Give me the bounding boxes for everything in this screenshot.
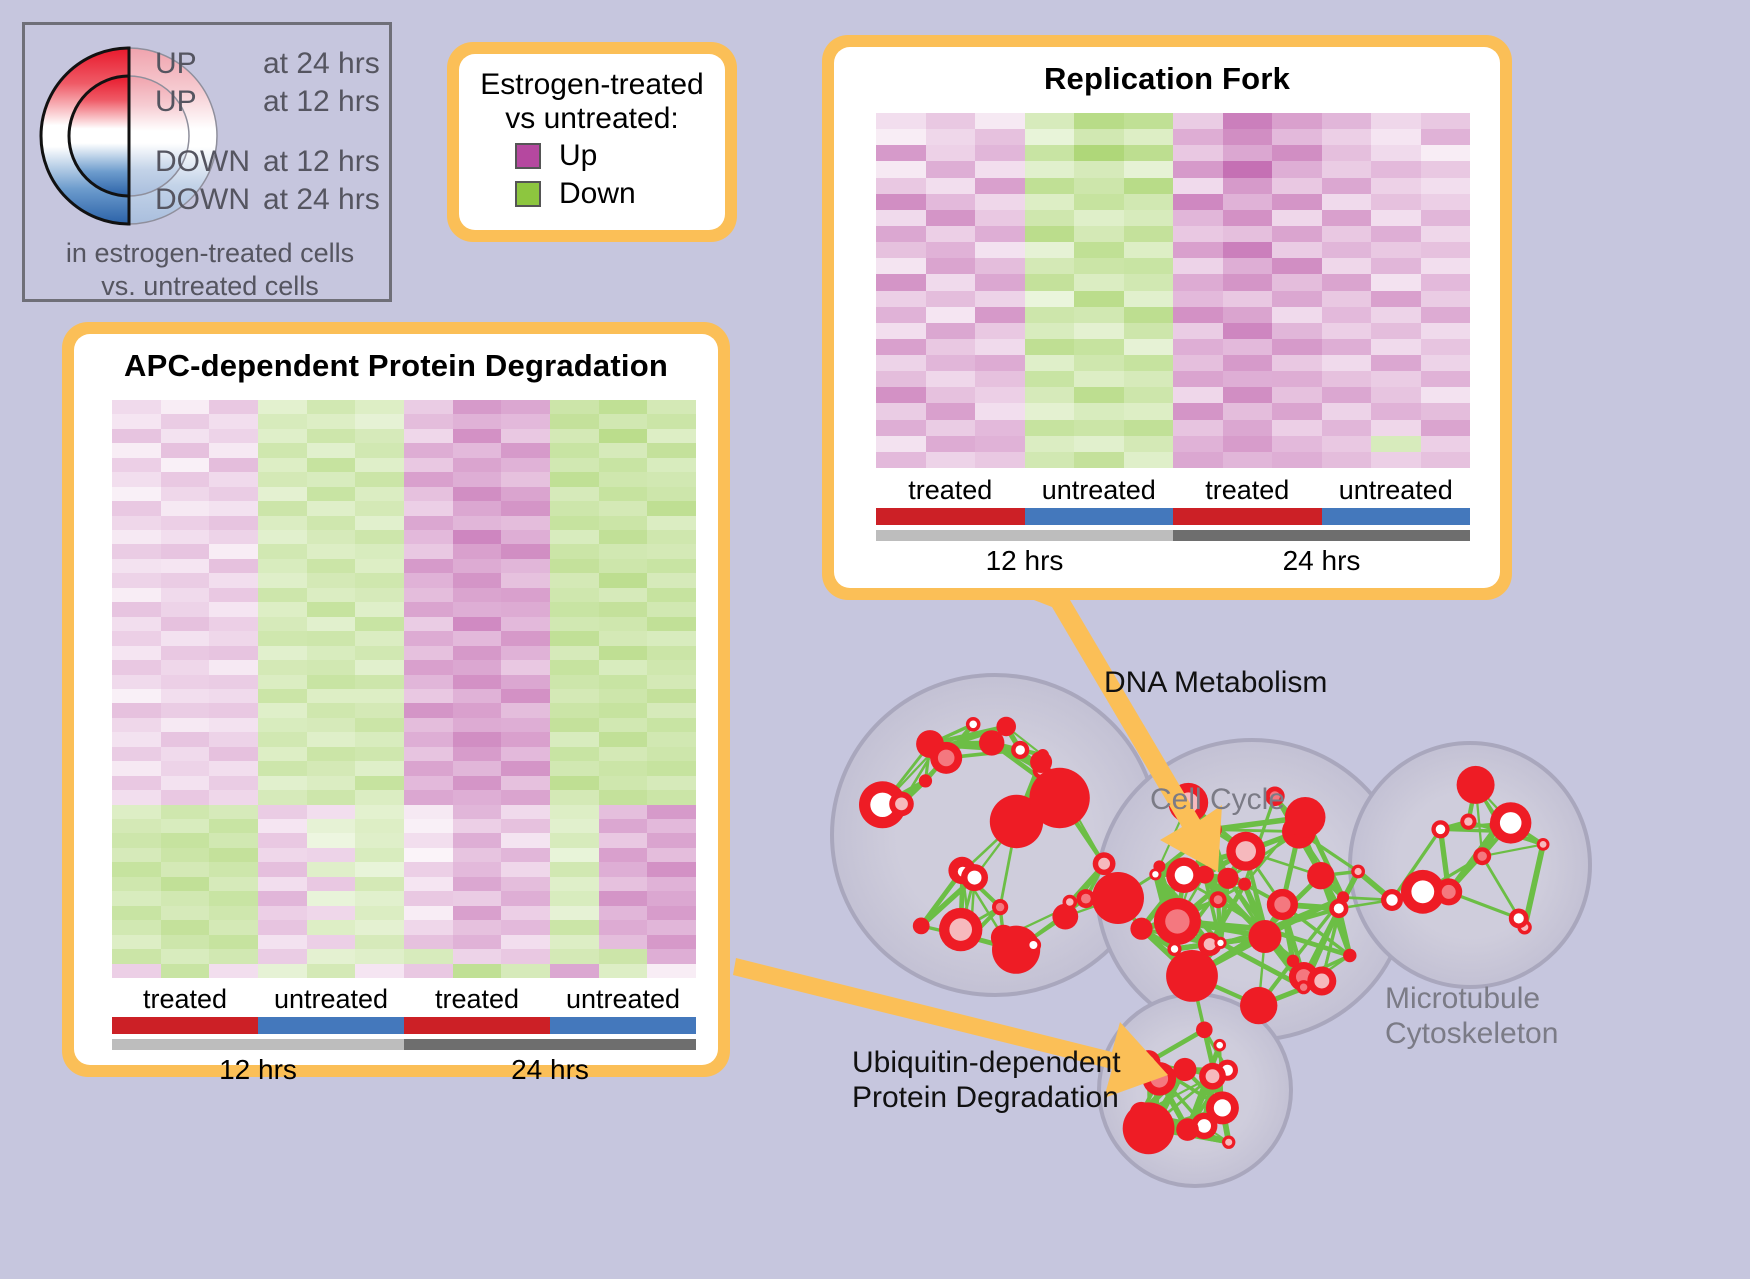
network-node[interactable] (1149, 868, 1161, 880)
timepoint-labels: 12 hrs24 hrs (876, 545, 1470, 577)
heatmap-cell (975, 403, 1025, 419)
heatmap-cell (1173, 113, 1223, 129)
heatmap-cell (161, 472, 210, 486)
heatmap-cell (501, 732, 550, 746)
heatmap-cell (599, 790, 648, 804)
heatmap-cell (1025, 355, 1075, 371)
heatmap-cell (926, 403, 976, 419)
network-node[interactable] (1173, 1058, 1196, 1081)
heatmap-cell (1421, 194, 1471, 210)
heatmap-cell (647, 646, 696, 660)
heatmap-cell (1074, 436, 1124, 452)
heatmap-cell (1272, 371, 1322, 387)
network-node[interactable] (1460, 814, 1476, 830)
heatmap-cell (1371, 291, 1421, 307)
heatmap-cell (550, 443, 599, 457)
heatmap-cell (1223, 291, 1273, 307)
heatmap-cell (501, 588, 550, 602)
heatmap-cell (404, 501, 453, 515)
heatmap-cell (1421, 420, 1471, 436)
heatmap-cell (161, 935, 210, 949)
heatmap-cell (1421, 323, 1471, 339)
heatmap-cell (404, 891, 453, 905)
heatmap-cell (1173, 436, 1223, 452)
heatmap-cell (1322, 420, 1372, 436)
heatmap-cell (1074, 145, 1124, 161)
heatmap-cell (453, 935, 502, 949)
heatmap-cell (647, 429, 696, 443)
heatmap-cell (647, 400, 696, 414)
heatmap-cell (355, 617, 404, 631)
network-node[interactable] (1307, 967, 1336, 996)
heatmap-cell (404, 819, 453, 833)
network-node-core (1142, 1056, 1154, 1068)
heatmap-cell (209, 718, 258, 732)
heatmap-cell (501, 443, 550, 457)
heatmap-cell (355, 544, 404, 558)
heatmap-cell (1421, 113, 1471, 129)
network-node[interactable] (1166, 950, 1218, 1002)
heatmap-cell (307, 487, 356, 501)
network-node[interactable] (1490, 802, 1531, 843)
heatmap-cell (1124, 242, 1174, 258)
heatmap-cell (404, 660, 453, 674)
network-node[interactable] (1026, 937, 1041, 952)
heatmap-cell (355, 964, 404, 978)
network-node[interactable] (1351, 865, 1365, 879)
network-node-core (1175, 866, 1194, 885)
heatmap-cell (550, 920, 599, 934)
heatmap-cell (550, 675, 599, 689)
heatmap-cell (599, 891, 648, 905)
heatmap-cell (975, 258, 1025, 274)
heatmap-cell (209, 588, 258, 602)
network-node[interactable] (1307, 862, 1334, 889)
network-node[interactable] (1063, 895, 1078, 910)
heatmap-cell (307, 718, 356, 732)
heatmap-cell (307, 703, 356, 717)
heatmap-cell (501, 891, 550, 905)
heatmap-cell (258, 530, 307, 544)
heatmap-cell (1025, 129, 1075, 145)
heatmap-cell (1322, 355, 1372, 371)
heatmap-cell (404, 559, 453, 573)
heatmap-cell (1074, 129, 1124, 145)
heatmap-cell (258, 964, 307, 978)
heatmap-cell (209, 631, 258, 645)
heatmap-cell (1371, 194, 1421, 210)
heatmap-cell (1025, 178, 1075, 194)
heatmap-cell (355, 819, 404, 833)
heatmap-cell (161, 790, 210, 804)
heatmap-cell (1272, 403, 1322, 419)
heatmap-cell (1124, 355, 1174, 371)
network-node-core (938, 750, 955, 767)
heatmap-cell (501, 805, 550, 819)
network-node[interactable] (1030, 751, 1052, 773)
heatmap-cell (599, 747, 648, 761)
heatmap-cell (161, 819, 210, 833)
heatmap-cell (926, 436, 976, 452)
heatmap-cell (161, 776, 210, 790)
heatmap-cell (1173, 291, 1223, 307)
network-node[interactable] (1130, 918, 1152, 940)
label-ubiquitin-line2: Protein Degradation (852, 1081, 1121, 1116)
heatmap-cell (112, 833, 161, 847)
timepoint-colorbar (876, 530, 1470, 541)
apc-degradation-inner: APC-dependent Protein Degradation treate… (74, 334, 718, 1065)
replication-fork-annotation: treateduntreatedtreateduntreated 12 hrs2… (876, 475, 1470, 577)
heatmap-cell (112, 458, 161, 472)
heatmap-cell (501, 458, 550, 472)
network-node[interactable] (1154, 898, 1201, 945)
network-node[interactable] (1240, 987, 1277, 1024)
heatmap-cell (550, 747, 599, 761)
heatmap-cell (112, 877, 161, 891)
heatmap-cell (1322, 403, 1372, 419)
heatmap-cell (161, 400, 210, 414)
heatmap-cell (1421, 258, 1471, 274)
heatmap-cell (453, 675, 502, 689)
heatmap-cell (1272, 387, 1322, 403)
heatmap-cell (161, 660, 210, 674)
heatmap-cell (599, 776, 648, 790)
network-node[interactable] (1176, 1118, 1199, 1141)
sample-group-labels: treateduntreatedtreateduntreated (112, 984, 696, 1015)
apc-degradation-title: APC-dependent Protein Degradation (74, 334, 718, 384)
network-node[interactable] (1136, 1050, 1160, 1074)
heatmap-cell (926, 226, 976, 242)
heatmap-cell (307, 935, 356, 949)
heatmap-cell (926, 339, 976, 355)
network-node[interactable] (1202, 820, 1222, 840)
heatmap-cell (1124, 274, 1174, 290)
heatmap-cell (1074, 452, 1124, 468)
heatmap-cell (647, 501, 696, 515)
network-node[interactable] (1196, 866, 1214, 884)
network-node[interactable] (1093, 852, 1116, 875)
heatmap-cell (1173, 371, 1223, 387)
heatmap-cell (975, 355, 1025, 371)
heatmap-cell (453, 429, 502, 443)
heatmap-cell (550, 689, 599, 703)
timepoint-label: 24 hrs (404, 1054, 696, 1086)
heatmap-cell (112, 472, 161, 486)
heatmap-cell (599, 805, 648, 819)
network-node[interactable] (1435, 878, 1462, 905)
label-microtubule-cytoskeleton: Microtubule Cytoskeleton (1385, 982, 1535, 1052)
network-node[interactable] (966, 717, 981, 732)
heatmap-cell (647, 703, 696, 717)
heatmap-cell (1371, 436, 1421, 452)
heatmap-cell (1025, 371, 1075, 387)
estrogen-key-item-down: Down (469, 177, 715, 211)
heatmap-cell (209, 906, 258, 920)
network-node-core (1204, 938, 1216, 950)
network-node[interactable] (1457, 766, 1495, 804)
legend-row: UP at 24 hrs (155, 47, 395, 85)
heatmap-cell (599, 761, 648, 775)
heatmap-cell (501, 935, 550, 949)
heatmap-cell (1124, 339, 1174, 355)
apc-degradation-heatmap (112, 400, 696, 978)
heatmap-cell (550, 472, 599, 486)
heatmap-cell (1371, 355, 1421, 371)
network-node[interactable] (1509, 909, 1529, 929)
heatmap-cell (404, 472, 453, 486)
heatmap-cell (307, 530, 356, 544)
heatmap-cell (550, 891, 599, 905)
heatmap-cell (501, 646, 550, 660)
network-node-core (1098, 858, 1110, 870)
heatmap-cell (876, 274, 926, 290)
legend-direction: UP (155, 47, 263, 81)
heatmap-cell (404, 776, 453, 790)
heatmap-cell (355, 920, 404, 934)
heatmap-cell (112, 732, 161, 746)
heatmap-cell (1322, 242, 1372, 258)
network-node[interactable] (1210, 891, 1227, 908)
heatmap-cell (876, 452, 926, 468)
heatmap-cell (1223, 387, 1273, 403)
heatmap-cell (1272, 161, 1322, 177)
heatmap-cell (501, 920, 550, 934)
heatmap-cell (453, 588, 502, 602)
heatmap-cell (599, 949, 648, 963)
heatmap-cell (1371, 145, 1421, 161)
heatmap-cell (975, 307, 1025, 323)
network-node[interactable] (1011, 741, 1029, 759)
heatmap-cell (1272, 145, 1322, 161)
network-node[interactable] (1537, 838, 1550, 851)
heatmap-cell (1074, 307, 1124, 323)
heatmap-cell (355, 516, 404, 530)
network-node[interactable] (1196, 1022, 1213, 1039)
heatmap-cell (258, 761, 307, 775)
heatmap-cell (1223, 194, 1273, 210)
heatmap-cell (1272, 178, 1322, 194)
heatmap-cell (209, 501, 258, 515)
heatmap-cell (975, 161, 1025, 177)
heatmap-cell (550, 602, 599, 616)
heatmap-cell (258, 848, 307, 862)
heatmap-cell (453, 949, 502, 963)
heatmap-cell (112, 559, 161, 573)
heatmap-cell (599, 530, 648, 544)
heatmap-cell (161, 862, 210, 876)
network-node[interactable] (1199, 1063, 1226, 1090)
network-node[interactable] (1192, 846, 1206, 860)
network-node[interactable] (1217, 868, 1238, 889)
heatmap-cell (161, 761, 210, 775)
heatmap-cell (453, 689, 502, 703)
heatmap-cell (501, 414, 550, 428)
network-node[interactable] (992, 899, 1008, 915)
heatmap-cell (209, 414, 258, 428)
network-node[interactable] (1029, 768, 1089, 828)
heatmap-cell (550, 487, 599, 501)
heatmap-cell (1223, 403, 1273, 419)
label-ubiquitin-degradation: Ubiquitin-dependent Protein Degradation (852, 1046, 1121, 1116)
heatmap-cell (647, 877, 696, 891)
heatmap-cell (1173, 145, 1223, 161)
heatmap-cell (1124, 323, 1174, 339)
heatmap-cell (1173, 339, 1223, 355)
heatmap-cell (453, 964, 502, 978)
heatmap-cell (355, 790, 404, 804)
network-node[interactable] (1267, 889, 1298, 920)
heatmap-cell (112, 443, 161, 457)
heatmap-cell (599, 675, 648, 689)
heatmap-cell (209, 573, 258, 587)
network-node[interactable] (1431, 820, 1449, 838)
timepoint-label: 24 hrs (1173, 545, 1470, 577)
heatmap-cell (599, 718, 648, 732)
heatmap-cell (258, 588, 307, 602)
heatmap-cell (975, 210, 1025, 226)
network-node[interactable] (1249, 920, 1282, 953)
heatmap-cell (1371, 307, 1421, 323)
heatmap-cell (161, 877, 210, 891)
heatmap-cell (1421, 145, 1471, 161)
timepoint-colorbar (112, 1039, 696, 1050)
heatmap-cell (453, 761, 502, 775)
legend-row: UP at 12 hrs (155, 85, 395, 123)
network-node[interactable] (939, 908, 982, 951)
heatmap-cell (501, 617, 550, 631)
heatmap-cell (1272, 129, 1322, 145)
network-node[interactable] (1092, 872, 1144, 924)
heatmap-cell (599, 472, 648, 486)
network-node[interactable] (913, 918, 930, 935)
heatmap-cell (307, 646, 356, 660)
network-node[interactable] (1214, 937, 1226, 949)
heatmap-cell (161, 487, 210, 501)
heatmap-cell (1173, 307, 1223, 323)
heatmap-cell (1025, 339, 1075, 355)
heatmap-cell (599, 544, 648, 558)
network-node[interactable] (1226, 832, 1265, 871)
heatmap-cell (161, 891, 210, 905)
network-node-core (1478, 852, 1487, 861)
heatmap-cell (453, 487, 502, 501)
heatmap-cell (404, 443, 453, 457)
network-node[interactable] (1343, 949, 1356, 962)
network-node[interactable] (1238, 878, 1251, 891)
network-node[interactable] (1285, 797, 1326, 838)
network-node-core (968, 871, 982, 885)
heatmap-cell (307, 602, 356, 616)
network-node-core (1029, 941, 1037, 949)
heatmap-cell (1371, 178, 1421, 194)
heatmap-cell (1223, 258, 1273, 274)
heatmap-cell (258, 501, 307, 515)
heatmap-cell (258, 776, 307, 790)
heatmap-cell (453, 631, 502, 645)
heatmap-cell (112, 718, 161, 732)
heatmap-cell (453, 833, 502, 847)
heatmap-cell (1371, 210, 1421, 226)
heatmap-cell (112, 429, 161, 443)
heatmap-cell (501, 862, 550, 876)
network-node[interactable] (1206, 1091, 1239, 1124)
heatmap-cell (550, 906, 599, 920)
network-node[interactable] (1123, 1102, 1175, 1154)
network-node-core (1016, 745, 1025, 754)
heatmap-cell (404, 530, 453, 544)
heatmap-cell (599, 703, 648, 717)
heatmap-cell (1272, 258, 1322, 274)
heatmap-cell (1025, 258, 1075, 274)
network-node[interactable] (1337, 891, 1349, 903)
heatmap-cell (926, 274, 976, 290)
heatmap-cell (1074, 323, 1124, 339)
heatmap-cell (209, 516, 258, 530)
heatmap-cell (975, 339, 1025, 355)
heatmap-cell (258, 443, 307, 457)
sample-group-color-segment (1322, 508, 1471, 525)
heatmap-cell (307, 877, 356, 891)
heatmap-cell (258, 949, 307, 963)
network-node[interactable] (1287, 955, 1300, 968)
heatmap-cell (1124, 194, 1174, 210)
network-node[interactable] (930, 742, 962, 774)
heatmap-cell (209, 935, 258, 949)
heatmap-cell (258, 400, 307, 414)
network-node[interactable] (1213, 1039, 1226, 1052)
network-node[interactable] (889, 792, 914, 817)
heatmap-cell (355, 588, 404, 602)
label-ubiquitin-line1: Ubiquitin-dependent (852, 1046, 1121, 1081)
heatmap-cell (258, 877, 307, 891)
heatmap-cell (112, 848, 161, 862)
heatmap-cell (599, 487, 648, 501)
heatmap-cell (209, 848, 258, 862)
network-node[interactable] (996, 717, 1016, 737)
heatmap-cell (599, 631, 648, 645)
heatmap-cell (307, 964, 356, 978)
network-node[interactable] (961, 864, 988, 891)
network-node[interactable] (1222, 1136, 1235, 1149)
heatmap-cell (876, 403, 926, 419)
heatmap-cell (550, 660, 599, 674)
heatmap-cell (647, 819, 696, 833)
heatmap-cell (161, 544, 210, 558)
heatmap-cell (1223, 371, 1273, 387)
heatmap-cell (1223, 161, 1273, 177)
heatmap-cell (209, 617, 258, 631)
heatmap-cell (1074, 355, 1124, 371)
network-node[interactable] (1381, 889, 1403, 911)
heatmap-cell (1124, 307, 1174, 323)
heatmap-cell (1173, 210, 1223, 226)
heatmap-cell (355, 559, 404, 573)
heatmap-cell (1074, 242, 1124, 258)
heatmap-cell (876, 323, 926, 339)
network-node[interactable] (919, 774, 932, 787)
heatmap-cell (161, 588, 210, 602)
heatmap-cell (1025, 452, 1075, 468)
up-label: Up (559, 139, 669, 173)
timepoint-color-segment (876, 530, 1173, 541)
heatmap-cell (1322, 371, 1372, 387)
heatmap-cell (307, 458, 356, 472)
heatmap-cell (550, 414, 599, 428)
estrogen-key-title-line1: Estrogen-treated (469, 68, 715, 102)
network-node[interactable] (1473, 847, 1491, 865)
heatmap-cell (501, 747, 550, 761)
heatmap-cell (258, 805, 307, 819)
